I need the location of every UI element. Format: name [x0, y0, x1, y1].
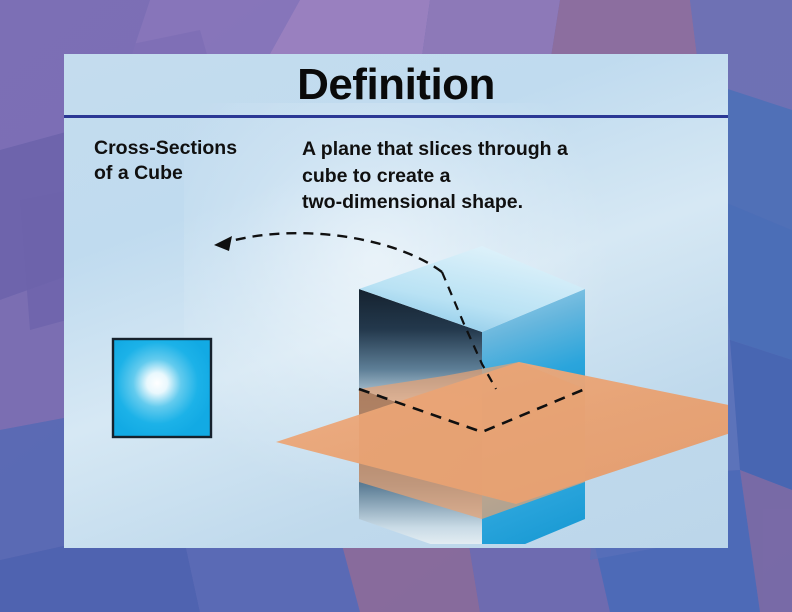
arrow-head-icon	[214, 236, 232, 251]
definition-line-1: A plane that slices through a	[302, 136, 704, 163]
dashed-curved-arrow	[224, 233, 442, 272]
definition-text: A plane that slices through a cube to cr…	[302, 136, 704, 216]
definition-line-2: cube to create a	[302, 163, 704, 190]
slide-canvas: Definition Cross-Sections of a Cube A pl…	[0, 0, 792, 612]
term-line-2: of a Cube	[94, 161, 302, 186]
definition-block: Cross-Sections of a Cube A plane that sl…	[94, 136, 704, 216]
term-line-1: Cross-Sections	[94, 136, 302, 161]
cross-section-square	[113, 339, 211, 437]
illustration	[64, 214, 728, 544]
term-label: Cross-Sections of a Cube	[94, 136, 302, 216]
content-panel: Definition Cross-Sections of a Cube A pl…	[64, 54, 728, 548]
page-title: Definition	[297, 63, 495, 107]
header: Definition	[64, 54, 728, 116]
cross-section-diagram	[64, 214, 728, 544]
definition-line-3: two-dimensional shape.	[302, 189, 704, 216]
header-divider	[64, 115, 728, 118]
